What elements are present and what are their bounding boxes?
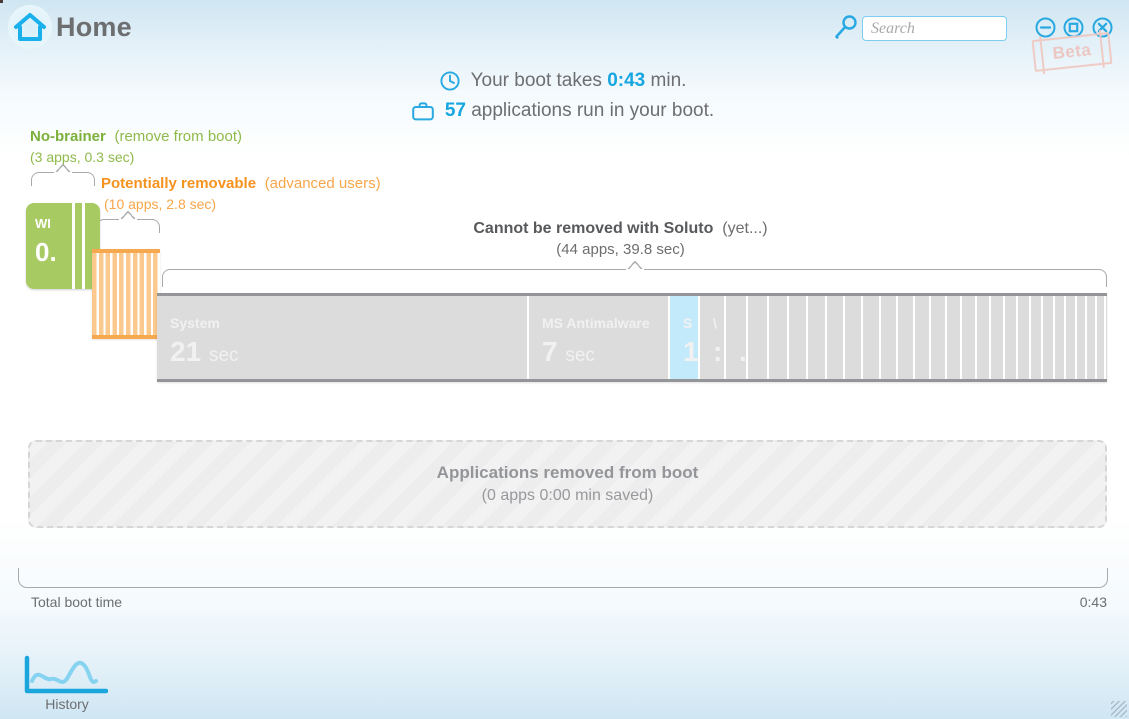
boot-app-segment[interactable]	[1005, 296, 1018, 379]
search-icon[interactable]	[833, 13, 861, 41]
boot-app-segment[interactable]	[1055, 296, 1066, 379]
boot-app-segment[interactable]	[1018, 296, 1031, 379]
boot-app-name: S	[683, 315, 692, 331]
removed-subtitle: (0 apps 0:00 min saved)	[482, 487, 654, 505]
potential-count: (10 apps, 2.8 sec)	[104, 196, 381, 212]
boot-app-segment[interactable]	[789, 296, 808, 379]
bracket-notch	[54, 164, 72, 174]
boot-app-name: System	[170, 315, 220, 331]
boot-app-segment[interactable]	[827, 296, 845, 379]
boot-app-duration-number: 1	[683, 336, 699, 367]
boot-app-segment[interactable]	[1031, 296, 1043, 379]
total-boot-time-value: 0:43	[1080, 594, 1107, 610]
bracket-potentially-removable	[96, 219, 160, 233]
boot-app-duration: .	[739, 336, 747, 368]
window-corner-marker	[0, 0, 3, 3]
boot-app-duration: 7 sec	[542, 336, 595, 368]
history-button[interactable]: History	[22, 655, 112, 713]
boot-time-line: Your boot takes 0:43 min.	[0, 66, 1129, 96]
nobrainer-block[interactable]: WI 0.	[26, 203, 100, 289]
history-label: History	[22, 696, 112, 712]
nobrainer-subtitle-text: (remove from boot)	[114, 128, 242, 145]
boot-time-post: min.	[651, 70, 687, 92]
boot-app-name: \	[713, 315, 717, 331]
boot-app-segment[interactable]	[1106, 296, 1107, 379]
category-label-cannot-be-removed: Cannot be removed with Soluto (yet...) (…	[0, 220, 1129, 258]
boot-app-segment[interactable]	[931, 296, 947, 379]
boot-app-segment[interactable]	[1043, 296, 1055, 379]
boot-app-segment[interactable]	[915, 296, 931, 379]
boot-app-segment[interactable]	[1087, 296, 1097, 379]
bracket-notch	[119, 211, 137, 221]
boot-app-segment[interactable]	[845, 296, 863, 379]
potential-title: Potentially removable	[101, 175, 256, 192]
boot-app-segment[interactable]	[881, 296, 898, 379]
app-count-value: 57	[445, 100, 466, 122]
boot-app-segment[interactable]	[748, 296, 769, 379]
boot-app-duration-unit: sec	[209, 345, 239, 366]
boot-app-duration: :	[713, 336, 722, 368]
boot-app-duration-unit: sec	[565, 345, 595, 366]
boot-app-duration-number: :	[713, 336, 722, 367]
total-boot-time-label: Total boot time	[31, 594, 122, 610]
nobrainer-app-label: WI	[35, 216, 51, 231]
boot-app-segment[interactable]	[1097, 296, 1106, 379]
boot-app-segment[interactable]	[769, 296, 789, 379]
search-input[interactable]	[862, 16, 1007, 41]
boot-app-segment[interactable]	[977, 296, 991, 379]
home-icon	[8, 5, 52, 49]
bracket-cannot-be-removed	[162, 269, 1107, 287]
total-bracket	[18, 568, 1108, 588]
cannot-count: (44 apps, 39.8 sec)	[112, 241, 1129, 258]
minimize-button[interactable]	[1035, 17, 1056, 38]
boot-app-segment[interactable]	[991, 296, 1005, 379]
nobrainer-title: No-brainer	[30, 128, 106, 145]
bracket-notch	[626, 261, 644, 271]
potential-subtitle: (advanced users)	[265, 175, 381, 192]
segment-divider	[82, 203, 85, 289]
title-bar: Home Beta	[0, 0, 1129, 56]
briefcase-icon	[411, 100, 435, 122]
removed-applications-dropzone[interactable]: Applications removed from boot (0 apps 0…	[28, 440, 1107, 528]
boot-time-pre: Your boot takes	[471, 70, 602, 92]
boot-app-segment[interactable]	[1066, 296, 1077, 379]
page-title: Home	[56, 12, 132, 43]
boot-app-segment[interactable]: System21 sec	[157, 296, 529, 379]
cannot-title: Cannot be removed with Soluto	[473, 220, 713, 237]
nobrainer-count: (3 apps, 0.3 sec)	[30, 149, 242, 165]
boot-app-segment[interactable]	[962, 296, 977, 379]
boot-app-segment[interactable]	[898, 296, 915, 379]
boot-app-segment[interactable]	[1077, 296, 1087, 379]
boot-app-duration: 1	[683, 336, 699, 368]
app-count-post: applications run in your boot.	[471, 100, 714, 122]
boot-app-segment[interactable]	[947, 296, 962, 379]
clock-icon	[439, 70, 461, 92]
boot-app-segment[interactable]	[863, 296, 881, 379]
category-label-nobrainer: No-brainer (remove from boot) (3 apps, 0…	[30, 128, 242, 165]
potentially-removable-block[interactable]	[92, 249, 160, 339]
resize-grip[interactable]	[1111, 701, 1127, 717]
boot-app-segment[interactable]: .	[726, 296, 748, 379]
removed-title: Applications removed from boot	[437, 463, 699, 483]
boot-app-segment[interactable]: \:	[700, 296, 726, 379]
cannot-be-removed-block: System21 secMS Antimalware7 secS1\:.	[157, 293, 1107, 382]
app-count-line: 57 applications run in your boot.	[0, 96, 1129, 126]
boot-time-value: 0:43	[607, 70, 645, 92]
segment-divider	[72, 203, 75, 289]
boot-app-segment[interactable]: MS Antimalware7 sec	[529, 296, 670, 379]
category-label-potentially-removable: Potentially removable (advanced users) (…	[101, 175, 381, 212]
boot-app-segment[interactable]: S1	[670, 296, 700, 379]
boot-summary: Your boot takes 0:43 min. 57 application…	[0, 66, 1129, 126]
bracket-nobrainer	[31, 172, 95, 186]
boot-app-duration-number: .	[739, 336, 747, 367]
cannot-subtitle: (yet...)	[722, 220, 767, 237]
boot-app-segment[interactable]	[808, 296, 827, 379]
boot-app-name: MS Antimalware	[542, 315, 650, 331]
boot-app-duration-number: 7	[542, 336, 558, 367]
boot-app-duration: 21 sec	[170, 336, 239, 368]
nobrainer-app-value: 0.	[35, 237, 57, 268]
boot-app-duration-number: 21	[170, 336, 201, 367]
